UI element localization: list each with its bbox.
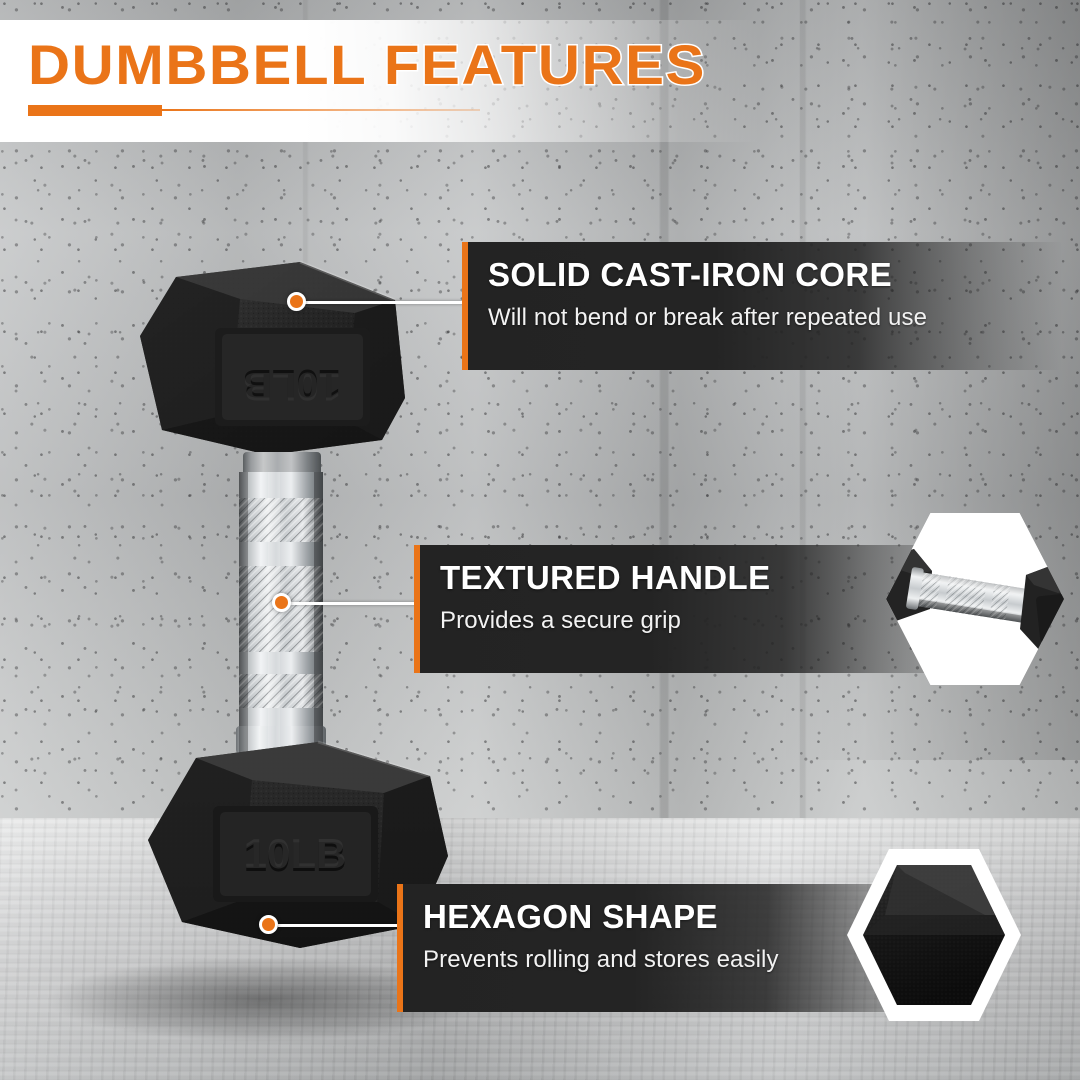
feature-callout-textured-handle: TEXTURED HANDLE Provides a secure grip [414,545,974,673]
hexagon-endface-illustration [845,845,1023,1025]
feature-title: TEXTURED HANDLE [440,559,771,597]
feature-title: SOLID CAST-IRON CORE [488,256,892,294]
hexagon-end-face-hexagon-thumbnail [845,845,1023,1025]
panel-accent-bar [462,242,468,370]
feature-panel: TEXTURED HANDLE Provides a secure grip [414,545,974,673]
title-underline-bar [28,105,162,116]
connector-line-feature-2 [290,602,418,605]
infographic-canvas: DUMBBELL FEATURES [0,0,1080,1080]
hotspot-dot-feature-3[interactable] [259,915,278,934]
title-underline-hairline [160,109,480,111]
connector-line-feature-1 [296,301,464,304]
feature-title: HEXAGON SHAPE [423,898,718,936]
feature-subtitle: Will not bend or break after repeated us… [488,304,927,332]
feature-panel: SOLID CAST-IRON CORE Will not bend or br… [462,242,1062,370]
hotspot-dot-feature-1[interactable] [287,292,306,311]
panel-accent-bar [397,884,403,1012]
feature-subtitle: Prevents rolling and stores easily [423,946,779,974]
panel-accent-bar [414,545,420,673]
page-title: DUMBBELL FEATURES [28,36,706,94]
hotspot-dot-feature-2[interactable] [272,593,291,612]
feature-subtitle: Provides a secure grip [440,607,681,635]
feature-callout-solid-cast-iron-core: SOLID CAST-IRON CORE Will not bend or br… [462,242,1062,370]
